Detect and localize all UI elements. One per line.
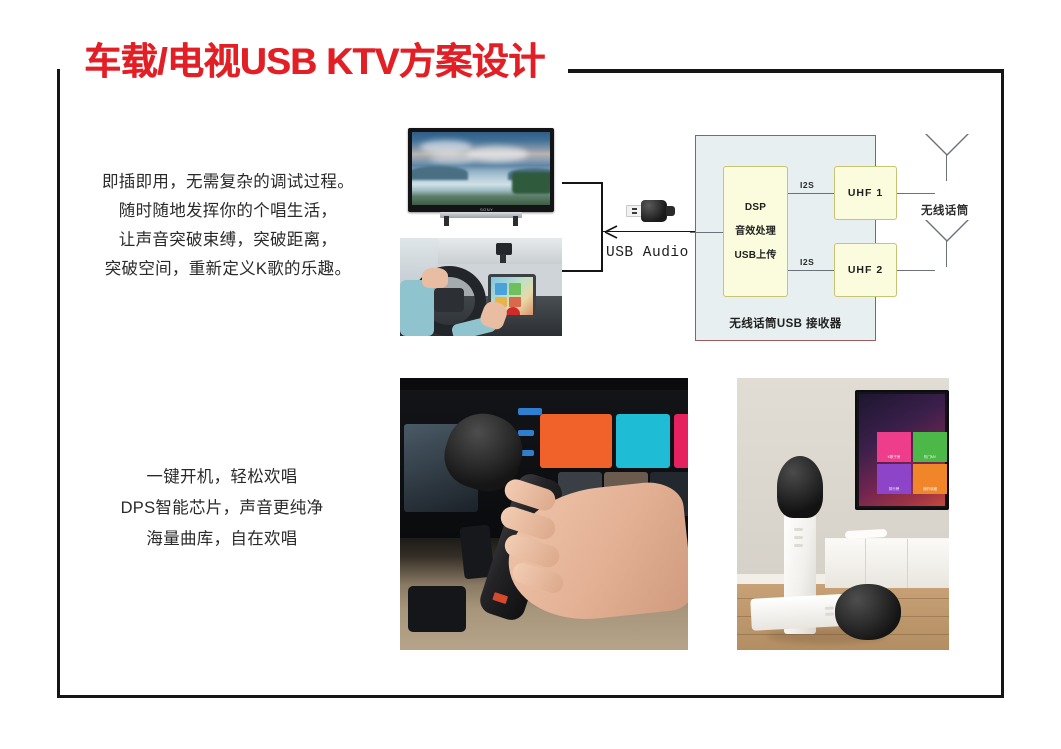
usb-dongle-body [641,200,667,222]
i2s-label-2: I2S [800,257,814,267]
car-display-tile [540,414,612,468]
microphone-foam-head [835,584,901,640]
tv-screen-content: K歌子房 热门MV 排行榜 我的收藏 [859,394,945,506]
car-screen-tile [495,283,507,295]
tv-stand [440,212,522,218]
hand-holding-microphone-in-car-photo [400,378,688,650]
car-display-badge [518,408,542,415]
tv-foot [444,216,449,226]
usb-dongle-pin [632,208,637,210]
tv-app-tile-label: 我的收藏 [913,487,947,492]
antenna-triangle-inner [927,134,967,154]
car-screen-tile [509,283,521,295]
tv-app-tile-label: 排行榜 [877,487,911,492]
microphone-brand-mark [492,592,508,604]
microphone-button [825,606,834,609]
car-screen-call-button [506,307,520,318]
antenna-wire-1 [897,193,935,194]
antenna-icon [925,134,969,182]
uhf1-block: UHF 1 [834,166,897,220]
tv-app-tile-label: K歌子房 [877,455,911,460]
dsp-block-line-2: 音效处理 [735,222,776,237]
microphone-button [794,528,803,531]
i2s-wire-1 [788,193,834,194]
tv-foot [513,216,518,226]
car-interior-touchscreen-photo [400,238,562,336]
tv-hill [412,166,468,180]
microphone-button [794,536,803,539]
cabinet-seam [907,539,908,588]
intro-copy-block: 即插即用，无需复杂的调试过程。 随时随地发挥你的个唱生活， 让声音突破束缚，突破… [68,168,388,284]
i2s-wire-2 [788,270,834,271]
feature-copy-line-2: DPS智能芯片，声音更纯净 [62,493,382,524]
cabinet-seam [865,539,866,588]
wireless-mic-label: 无线话筒 [921,202,969,218]
tv-cloud [430,154,474,164]
tv-foliage [512,172,550,194]
car-display-tile [674,414,688,468]
photo-group-bracket [562,182,603,272]
antenna-triangle-inner [927,220,967,240]
intro-copy-line-1: 即插即用，无需复杂的调试过程。 [68,168,388,197]
tv-app-tile: K歌子房 [877,432,911,462]
living-room-tv: K歌子房 热门MV 排行榜 我的收藏 [855,390,949,510]
uhf2-block: UHF 2 [834,243,897,297]
usb-dongle-tail [666,206,675,216]
tv-app-tile: 热门MV [913,432,947,462]
car-wheel-hub [434,288,464,312]
usb-dongle-plug [626,205,642,217]
i2s-label-1: I2S [800,180,814,190]
intro-copy-line-3: 让声音突破束缚，突破距离， [68,226,388,255]
page-title: 车载/电视USB KTV方案设计 [84,43,545,80]
slide-canvas: 车载/电视USB KTV方案设计 即插即用，无需复杂的调试过程。 随时随地发挥你… [0,0,1061,749]
usb-input-wire [690,232,723,233]
tv-cloud [420,140,472,154]
tv-cabinet [825,538,949,588]
microphone-button [825,612,834,615]
microphone-button [794,544,803,547]
microphone-foam-head [777,456,823,518]
two-karaoke-microphones-living-room-photo: K歌子房 热门MV 排行榜 我的收藏 [737,378,949,650]
antenna-stem [946,241,947,267]
car-display-badge [518,430,534,436]
feature-copy-block: 一键开机，轻松欢唱 DPS智能芯片，声音更纯净 海量曲库，自在欢唱 [62,462,382,555]
receiver-block-diagram: DSP 音效处理 USB上传 UHF 1 UHF 2 I2S I2S 无线话筒U… [695,135,876,341]
tv-app-tile: 排行榜 [877,464,911,494]
microphone-lying [751,582,901,640]
car-driver-sleeve [400,280,434,336]
usb-dongle-pin [632,212,637,214]
car-display-tile [616,414,670,468]
dsp-block-line-3: USB上传 [734,246,776,261]
car-driver-hand-on-wheel [422,268,448,288]
car-dashcam-mount [500,254,506,263]
tv-screen [412,132,550,205]
antenna-wire-2 [897,270,935,271]
usb-audio-label: USB Audio [606,245,689,261]
intro-copy-line-4: 突破空间，重新定义K歌的乐趣。 [68,255,388,284]
car-screen-tile [509,297,521,307]
tv-bezel: SONY [408,128,554,212]
diagram-caption: 无线话筒USB 接收器 [696,315,875,331]
tv-app-tile-label: 热门MV [913,455,947,460]
usb-dongle-icon [626,200,676,222]
antenna-icon [925,220,969,268]
dsp-block-line-1: DSP [745,202,766,213]
feature-copy-line-3: 海量曲库，自在欢唱 [62,524,382,555]
car-air-vent [408,586,466,632]
tv-app-tile: 我的收藏 [913,464,947,494]
intro-copy-line-2: 随时随地发挥你的个唱生活， [68,197,388,226]
tv-cloud [466,146,528,162]
flat-screen-tv-photo: SONY [400,126,562,228]
feature-copy-line-1: 一键开机，轻松欢唱 [62,462,382,493]
antenna-stem [946,155,947,181]
arrow-left-icon [604,224,618,238]
dsp-block: DSP 音效处理 USB上传 [723,166,788,297]
